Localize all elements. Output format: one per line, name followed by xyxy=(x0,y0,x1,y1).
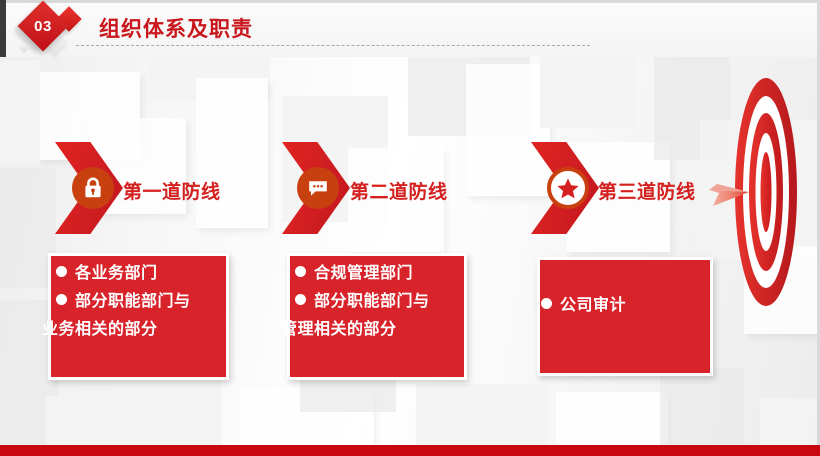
stage-box-1-line-2: 部分职能部门与 xyxy=(42,288,242,316)
slide-canvas: 03 组织体系及职责 第一道防线 第二道防线 第三道防线 xyxy=(0,0,820,456)
bullet-dot xyxy=(295,294,306,305)
bg-square xyxy=(196,78,268,228)
stage-box-2-line-1: 合规管理部门 xyxy=(281,260,481,288)
stage-box-3-line-1: 公司审计 xyxy=(533,292,723,320)
stage-label-1: 第一道防线 xyxy=(123,177,221,204)
frame-left-edge xyxy=(0,0,6,57)
bg-square xyxy=(760,398,820,446)
bg-square xyxy=(660,368,744,446)
page-title: 组织体系及职责 xyxy=(99,13,253,43)
stage-box-2-line-2: 部分职能部门与 xyxy=(281,288,481,316)
bullet-dot xyxy=(541,298,552,309)
dart-arrow-icon xyxy=(705,172,757,212)
bullet-dot xyxy=(56,294,67,305)
stage-label-3: 第三道防线 xyxy=(598,177,696,204)
stage-box-3-text: 公司审计 xyxy=(533,292,723,320)
bg-square xyxy=(416,384,548,446)
stage-box-1-line-1: 各业务部门 xyxy=(42,260,242,288)
stage-box-1-text: 各业务部门 部分职能部门与 业务相关的部分 xyxy=(42,260,242,344)
stage-box-2-text: 合规管理部门 部分职能部门与 管理相关的部分 xyxy=(281,260,481,344)
target-bullseye-center xyxy=(761,152,772,232)
chat-bubble-icon xyxy=(297,167,339,209)
title-divider xyxy=(76,45,590,46)
bg-square xyxy=(0,60,40,164)
bullet-dot xyxy=(295,266,306,277)
stage-box-2-line-3: 管理相关的部分 xyxy=(281,316,481,344)
stage-label-2: 第二道防线 xyxy=(350,177,448,204)
bg-square xyxy=(466,64,550,196)
bg-square xyxy=(0,394,46,446)
star-icon xyxy=(547,167,589,209)
lock-icon xyxy=(72,167,114,209)
stage-box-1-line-3: 业务相关的部分 xyxy=(42,316,242,344)
bg-square xyxy=(58,376,222,446)
bullet-dot xyxy=(56,266,67,277)
bottom-accent-bar xyxy=(0,445,820,456)
section-number-label: 03 xyxy=(25,8,61,44)
bg-square xyxy=(556,392,668,446)
